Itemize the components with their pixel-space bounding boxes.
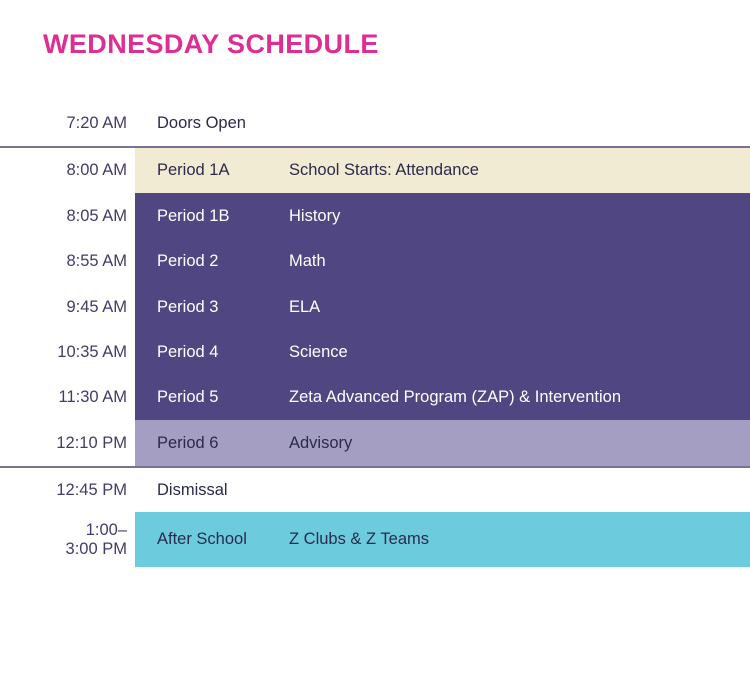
row-time: 7:20 AM xyxy=(0,114,127,132)
row-time: 8:55 AM xyxy=(0,252,127,270)
row-time: 12:10 PM xyxy=(0,434,127,452)
row-period-label: After School xyxy=(157,530,289,549)
schedule-row: 1:00– 3:00 PMAfter SchoolZ Clubs & Z Tea… xyxy=(0,512,750,567)
row-period-label: Period 1B xyxy=(157,207,289,226)
row-time: 8:05 AM xyxy=(0,207,127,225)
row-time: 9:45 AM xyxy=(0,298,127,316)
row-description: Zeta Advanced Program (ZAP) & Interventi… xyxy=(289,388,621,407)
schedule-row: 8:55 AMPeriod 2Math xyxy=(0,239,750,284)
row-description: Advisory xyxy=(289,434,352,453)
row-description: History xyxy=(289,207,340,226)
row-time: 8:00 AM xyxy=(0,161,127,179)
row-divider xyxy=(0,146,750,148)
row-description: School Starts: Attendance xyxy=(289,161,479,180)
schedule-page: WEDNESDAY SCHEDULE 7:20 AMDoors Open8:00… xyxy=(0,0,750,687)
row-time: 10:35 AM xyxy=(0,343,127,361)
schedule-row: 11:30 AMPeriod 5Zeta Advanced Program (Z… xyxy=(0,375,750,420)
schedule-row: 8:05 AMPeriod 1BHistory xyxy=(0,193,750,239)
row-period-label: Dismissal xyxy=(157,481,289,500)
schedule-row: 10:35 AMPeriod 4Science xyxy=(0,330,750,375)
row-divider xyxy=(0,466,750,468)
row-time: 12:45 PM xyxy=(0,481,127,499)
schedule-row: 12:10 PMPeriod 6Advisory xyxy=(0,420,750,466)
schedule-row: 7:20 AMDoors Open xyxy=(0,101,750,146)
row-period-label: Doors Open xyxy=(157,114,289,133)
row-period-label: Period 1A xyxy=(157,161,289,180)
row-period-label: Period 4 xyxy=(157,343,289,362)
row-description: Math xyxy=(289,252,326,271)
schedule-row: 8:00 AMPeriod 1ASchool Starts: Attendanc… xyxy=(0,148,750,193)
page-title: WEDNESDAY SCHEDULE xyxy=(43,29,379,60)
row-description: Z Clubs & Z Teams xyxy=(289,530,429,549)
schedule-row: 12:45 PMDismissal xyxy=(0,468,750,512)
row-period-label: Period 3 xyxy=(157,298,289,317)
row-description: Science xyxy=(289,343,348,362)
row-period-label: Period 6 xyxy=(157,434,289,453)
row-description: ELA xyxy=(289,298,320,317)
row-time: 11:30 AM xyxy=(0,388,127,406)
row-time: 1:00– 3:00 PM xyxy=(0,521,127,558)
schedule-row: 9:45 AMPeriod 3ELA xyxy=(0,284,750,330)
row-period-label: Period 5 xyxy=(157,388,289,407)
row-period-label: Period 2 xyxy=(157,252,289,271)
